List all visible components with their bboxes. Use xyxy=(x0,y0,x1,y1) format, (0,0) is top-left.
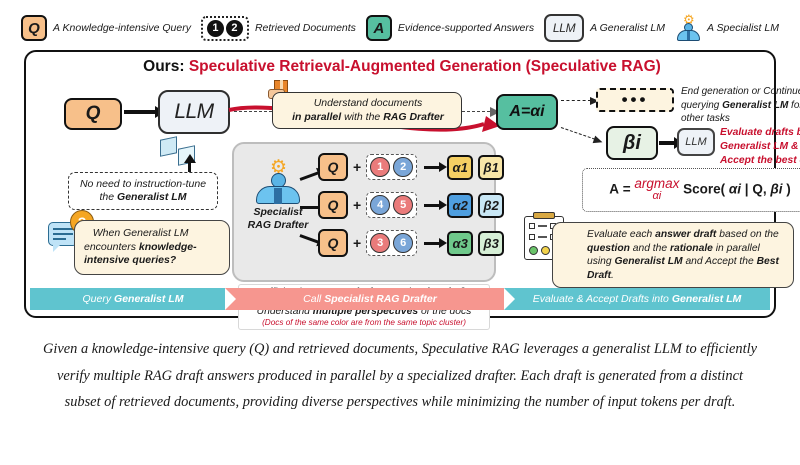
arrow-to-draft xyxy=(424,166,440,169)
generalist-llm-node: LLM xyxy=(158,90,230,134)
doc-number: 6 xyxy=(393,233,413,253)
doc-number: 3 xyxy=(370,233,390,253)
diagram-panel: Ours: Speculative Retrieval-Augmented Ge… xyxy=(24,50,776,318)
rib3-b: Generalist LM xyxy=(672,293,741,305)
note-understand-line1: Understand documents xyxy=(314,97,423,109)
draft-row: Q + 3 6 α3 β3 xyxy=(318,228,504,258)
beta-chip: β1 xyxy=(478,155,504,180)
legend-item-specialist: ⚙ A Specialist LM xyxy=(675,15,779,41)
alpha-chip: α3 xyxy=(447,231,473,256)
note-evaluate-drafts-red: Evaluate drafts by Generalist LM & Accep… xyxy=(720,126,800,168)
end-generation-dots: ••• xyxy=(596,88,674,112)
note-evaluate-drafts: Evaluate each answer draft based on the … xyxy=(552,222,794,288)
drafter-label-line1: Specialist xyxy=(253,206,302,218)
draft-row: Q + 4 5 α2 β2 xyxy=(318,190,504,220)
specialist-drafter-panel: ⚙ Specialist RAG Drafter Q + 1 2 α1 β1 xyxy=(232,142,496,282)
specialist-lm-icon: ⚙ xyxy=(675,15,701,41)
doc-number: 5 xyxy=(393,195,413,215)
alpha-chip: α1 xyxy=(447,155,473,180)
dashed-connector-left xyxy=(234,111,272,112)
stage-ribbon: Query Generalist LM Call Specialist RAG … xyxy=(30,288,770,310)
dashed-connector-right xyxy=(462,111,490,112)
legend-item-documents: 1 2 Retrieved Documents xyxy=(201,16,356,41)
drafter-label-line2: RAG Drafter xyxy=(248,219,309,231)
row-doc-group: 3 6 xyxy=(366,230,417,256)
formula-text: A = argmaxαi Score( αi | Q, βi ) xyxy=(609,177,791,203)
rib1-b: Generalist LM xyxy=(114,293,183,305)
ribbon-stage-drafter: Call Specialist RAG Drafter xyxy=(225,288,515,310)
beta-node: βi xyxy=(606,126,658,160)
legend-item-generalist: LLM A Generalist LM xyxy=(544,14,665,42)
beta-chip: β2 xyxy=(478,193,504,218)
rib3-a: Evaluate & Accept Drafts into xyxy=(533,293,672,305)
dashed-branch-bottom xyxy=(561,127,595,140)
note-understand-mid: with the xyxy=(344,111,380,123)
ribbon-stage-query: Query Generalist LM xyxy=(30,288,236,310)
row-doc-group: 4 5 xyxy=(366,192,417,218)
arrow-to-draft xyxy=(424,242,440,245)
row-query-chip: Q xyxy=(318,191,348,219)
note-generalist-question: When Generalist LM encounters knowledge-… xyxy=(74,220,230,275)
specialist-lm-icon: ⚙ xyxy=(250,160,306,204)
legend-label-answers: Evidence-supported Answers xyxy=(398,22,534,34)
row-query-chip: Q xyxy=(318,153,348,181)
alpha-chip: α2 xyxy=(447,193,473,218)
doc-dot-1: 1 xyxy=(207,20,224,37)
retrieved-documents-icon: 1 2 xyxy=(201,16,249,41)
rib1-a: Query xyxy=(83,293,115,305)
note-understand-documents: Understand documents in parallel with th… xyxy=(272,92,462,129)
query-chip-icon: Q xyxy=(21,15,47,41)
note-understand-em2: RAG Drafter xyxy=(383,111,444,123)
answer-chip-icon: A xyxy=(366,15,392,41)
row-query-chip: Q xyxy=(318,229,348,257)
legend-label-specialist: A Specialist LM xyxy=(707,22,779,34)
row-doc-group: 1 2 xyxy=(366,154,417,180)
title-prefix: Ours: xyxy=(143,58,184,75)
legend-item-answers: A Evidence-supported Answers xyxy=(366,15,534,41)
title-main: Speculative Retrieval-Augmented Generati… xyxy=(189,58,661,75)
specialist-drafter-block: ⚙ Specialist RAG Drafter xyxy=(242,160,314,231)
doc-dot-2: 2 xyxy=(226,20,243,37)
rib2-a: Call xyxy=(303,293,324,305)
legend-label-documents: Retrieved Documents xyxy=(255,22,356,34)
legend-item-query: Q A Knowledge-intensive Query xyxy=(21,15,191,41)
arrow-beta-to-llm xyxy=(659,141,675,145)
specialist-drafter-label: Specialist RAG Drafter xyxy=(242,206,314,231)
plus-sign: + xyxy=(353,159,361,175)
answer-alpha-node: A=αi xyxy=(496,94,558,130)
person-tie xyxy=(687,31,690,40)
doc-number: 1 xyxy=(370,157,390,177)
ribbon-stage-evaluate: Evaluate & Accept Drafts into Generalist… xyxy=(504,288,770,310)
generalist-lm-icon: LLM xyxy=(544,14,584,42)
beta-chip: β3 xyxy=(478,231,504,256)
legend-bar: Q A Knowledge-intensive Query 1 2 Retrie… xyxy=(0,8,800,48)
caption-strip-subnote: (Docs of the same color are from the sam… xyxy=(243,318,485,327)
arrow-drafter-row2 xyxy=(300,206,320,209)
doc-number: 4 xyxy=(370,195,390,215)
cube-icon xyxy=(160,136,177,157)
note-understand-em1: in parallel xyxy=(292,111,341,123)
arrow-drafter-row3 xyxy=(300,234,320,243)
figure-caption: Given a knowledge-intensive query (Q) an… xyxy=(40,336,760,416)
query-node: Q xyxy=(64,98,122,130)
note-end-generation: End generation or Continue querying Gene… xyxy=(681,85,800,126)
person-tie xyxy=(274,188,282,204)
arrow-query-to-llm xyxy=(124,110,156,114)
note-instruction-tune: No need to instruction-tune the Generali… xyxy=(68,172,218,210)
argmax-formula: A = argmaxαi Score( αi | Q, βi ) xyxy=(582,168,800,212)
rib2-b: Specialist RAG Drafter xyxy=(324,293,437,305)
page-title: Ours: Speculative Retrieval-Augmented Ge… xyxy=(26,58,778,76)
doc-number: 2 xyxy=(393,157,413,177)
end-gen-bold: Generalist LM xyxy=(722,100,788,111)
legend-label-generalist: A Generalist LM xyxy=(590,22,665,34)
draft-row: Q + 1 2 α1 β1 xyxy=(318,152,504,182)
arrow-to-draft xyxy=(424,204,440,207)
plus-sign: + xyxy=(353,235,361,251)
plus-sign: + xyxy=(353,197,361,213)
legend-label-query: A Knowledge-intensive Query xyxy=(53,22,191,34)
dashed-branch-top xyxy=(561,100,591,101)
evaluator-llm-node: LLM xyxy=(677,128,715,156)
